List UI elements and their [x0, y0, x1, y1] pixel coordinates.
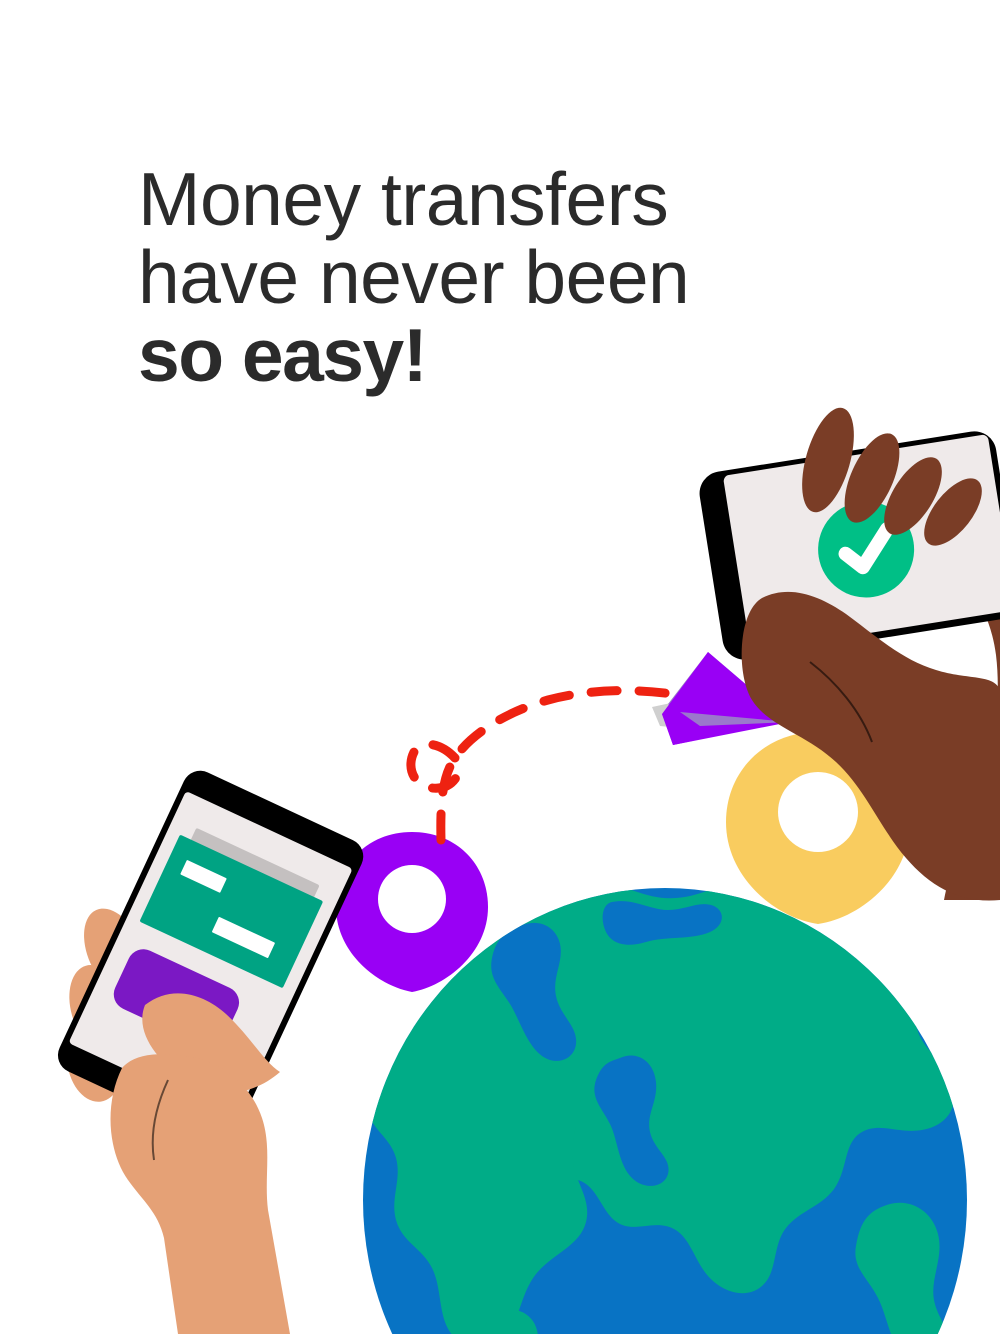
pin-hole-purple [378, 865, 446, 933]
pin-hole-yellow [778, 772, 858, 852]
sender-phone-group [52, 765, 369, 1334]
trail-main-arc [441, 691, 690, 840]
sender-palm-forearm [111, 1054, 290, 1334]
trail-loop [411, 744, 462, 788]
hero-illustration [0, 0, 1000, 1334]
illustration-canvas: Money transfers have never been so easy! [0, 0, 1000, 1334]
